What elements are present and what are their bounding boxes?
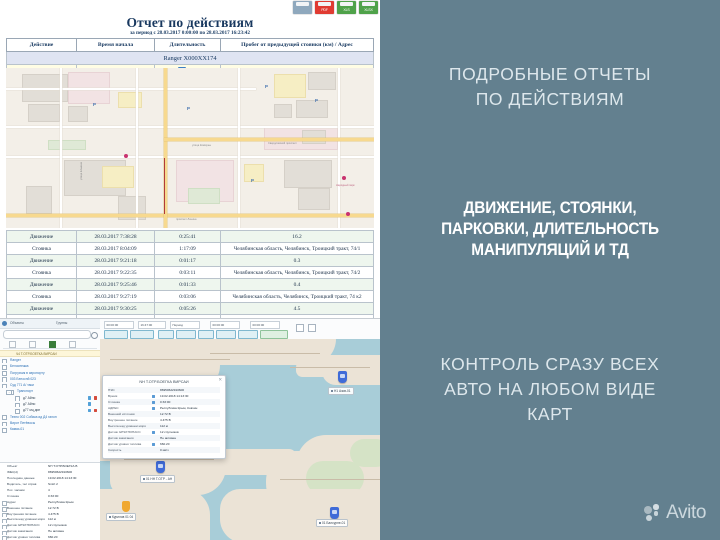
report-period-subtitle: за период с 28.03.2017 0:00:00 по 28.03.…: [0, 30, 380, 36]
map-building: [284, 160, 332, 188]
list-item-label: Ranger: [10, 358, 21, 362]
headline-block-2: ДВИЖЕНИЕ, СТОЯНКИ, ПАРКОВКИ, ДЛИТЕЛЬНОСТ…: [380, 198, 720, 261]
col-mileage-address: Пробег от предыдущей стоянки (км) / Адре…: [221, 39, 374, 52]
toolbar-icon-button[interactable]: [238, 330, 258, 339]
cell-start: 28.03.2017 7:38:28: [77, 231, 155, 243]
map-street-label: Свердловский проспект: [268, 142, 297, 145]
map-building: [296, 100, 328, 118]
map-track-line: [164, 158, 165, 214]
map-poi-label: Народный парк: [336, 184, 355, 187]
avito-watermark: Avito: [644, 502, 706, 524]
report-rows-table: Движение 28.03.2017 7:38:28 0:25:41 16.2…: [6, 230, 374, 318]
popup-label: Датчик GPS/ГЛОНАСС: [108, 430, 141, 434]
list-item-label: д7 Айно: [23, 402, 35, 406]
print-icon[interactable]: [293, 1, 312, 14]
parking-icon: P: [314, 98, 319, 103]
popup-label: АДРЕС: [108, 406, 119, 410]
pdf-label: PDF: [317, 8, 332, 13]
cell-detail: Челябинская область, Челябинск, Троицкий…: [221, 267, 374, 279]
map-toolbar: 00:00:00 16:47:00 Период 00:00:00 00:00:…: [100, 319, 380, 340]
export-toolbar: PDF XLS XLSX: [293, 1, 378, 14]
map-green-area: [48, 140, 86, 150]
col-start-time: Время начала: [77, 39, 155, 52]
vehicle-marker[interactable]: [330, 507, 339, 519]
property-label: Датчик GPS/ГЛОНАСС: [7, 523, 40, 527]
map-building: [308, 72, 336, 90]
popup-label: Скорость: [108, 448, 121, 452]
avito-dot-3: [654, 511, 659, 516]
parking-icon: P: [264, 84, 269, 89]
app-sidebar: Объекты Группы Ч4 T.OTP.БОЕГКА ВИРСАИ Ra…: [0, 319, 101, 540]
table-row: Движение 28.03.2017 9:21:18 0:01:17 0.3: [7, 255, 374, 267]
cell-detail: 16.2: [221, 231, 374, 243]
avito-dot-4: [646, 515, 652, 521]
property-label: Внешнее питание: [7, 506, 33, 510]
print-label: [295, 8, 310, 13]
map-route: [110, 359, 230, 360]
map-building: [28, 104, 60, 122]
toolbar-icon-button[interactable]: [176, 330, 196, 339]
report-title: Отчет по действиям: [0, 15, 380, 31]
map-building: [302, 130, 326, 144]
fuel-label[interactable]: Курилов 01 04: [106, 513, 136, 521]
cell-start: 28.03.2017 9:27:19: [77, 291, 155, 303]
toolbar-field-period[interactable]: Период: [170, 321, 200, 329]
avito-wordmark: Avito: [666, 502, 706, 524]
list-item-label: Белоснежка: [10, 364, 29, 368]
list-item[interactable]: Камаз-01: [0, 426, 100, 432]
map-route: [210, 353, 320, 354]
cell-action: Стоянка: [7, 267, 77, 279]
screenshot-root: PDF XLS XLSX Отчет по действиям за перио…: [0, 0, 720, 540]
cell-action: Стоянка: [7, 243, 77, 255]
list-item-label: 003 Белоснй 023: [10, 377, 36, 381]
cell-duration: 0:03:06: [155, 291, 221, 303]
sidebar-tab-groups[interactable]: Группы: [56, 321, 67, 325]
checkbox[interactable]: [2, 428, 7, 433]
toolbar-icon-button[interactable]: [216, 330, 236, 339]
sidebar-tab-objects[interactable]: Объекты: [10, 321, 24, 325]
printer-paper: [296, 2, 309, 6]
app-logo-icon: [2, 321, 7, 326]
status-badge-blue[interactable]: [88, 396, 91, 399]
popup-label: Высота над уровнем моря: [108, 424, 146, 428]
toolbar-field-end[interactable]: 00:00:00: [250, 321, 280, 329]
track-button[interactable]: [104, 330, 128, 339]
cell-detail: Челябинская область, Челябинск, Троицкий…: [221, 291, 374, 303]
cell-action: Движение: [7, 231, 77, 243]
property-label: Адрес: [7, 500, 16, 504]
map-building: [118, 92, 142, 108]
satellite-icon: [152, 431, 155, 434]
headline-1-line-1: ПОДРОБНЫЕ ОТЧЕТЫ: [380, 62, 720, 87]
map-building: [298, 188, 330, 210]
property-label: Водитель, тел справ: [7, 482, 36, 486]
headline-block-3: КОНТРОЛЬ СРАЗУ ВСЕХ АВТО НА ЛЮБОМ ВИДЕ К…: [380, 352, 720, 427]
map-street-label: проспект Ленина: [176, 218, 196, 221]
cell-duration: 0:03:11: [155, 267, 221, 279]
report-city-map[interactable]: P P P P P улица Коммуны Свердловский про…: [6, 68, 374, 228]
popup-label: Внутреннее питание: [108, 418, 138, 422]
filter-tab-2[interactable]: [29, 341, 36, 348]
parking-icon: P: [186, 106, 191, 111]
headline-2-line-2: ПАРКОВКИ, ДЛИТЕЛЬНОСТЬ: [392, 219, 708, 240]
xls-paper: [340, 2, 353, 6]
col-duration: Длительность: [155, 39, 221, 52]
cell-duration: 0:01:17: [155, 255, 221, 267]
map-poi-marker[interactable]: [346, 212, 350, 216]
map-main-road: [6, 214, 374, 217]
map-road: [338, 68, 340, 228]
toolbar-checkbox[interactable]: [296, 324, 304, 332]
vehicle-group-row: Ranger X000XX174: [7, 52, 374, 65]
status-badge-red[interactable]: [94, 396, 97, 399]
map-route: [280, 479, 380, 480]
map-poi-marker[interactable]: [124, 154, 128, 158]
list-item-label: Техно 002 Собика ид Д4 галон: [10, 415, 57, 419]
property-label: Внутренняя питание: [7, 512, 36, 516]
map-poi-marker[interactable]: [342, 176, 346, 180]
cell-detail: 0.3: [221, 255, 374, 267]
headline-block-1: ПОДРОБНЫЕ ОТЧЕТЫ ПО ДЕЙСТВИЯМ: [380, 62, 720, 112]
property-label: Стоянка: [7, 494, 19, 498]
toolbar-icon-button[interactable]: [158, 330, 174, 339]
sidebar-filter-tabs: [3, 340, 97, 349]
status-badge-blue[interactable]: [88, 409, 91, 412]
xlsx-label: XLSX: [361, 8, 376, 13]
status-badge-red[interactable]: [94, 409, 97, 412]
cell-start: 28.03.2017 8:04:09: [77, 243, 155, 255]
popup-row: Скорость0 км/ч: [108, 447, 220, 453]
object-properties-panel: ОбъектNH T.OTP.БОЕГКА В IMEI(id)86950622…: [0, 462, 100, 540]
cell-action: Движение: [7, 279, 77, 291]
vehicle-label[interactable]: Н1 Азов-01: [328, 387, 354, 395]
avito-logo-icon: [644, 504, 662, 522]
close-icon[interactable]: ✕: [218, 378, 222, 382]
checkbox[interactable]: [2, 536, 7, 540]
toolbar-apply-button[interactable]: [260, 330, 288, 339]
clock-icon: [152, 395, 155, 398]
map-road: [6, 88, 256, 90]
vehicle-label[interactable]: 01 Балсурне-01: [316, 519, 348, 527]
popup-value: 0 км/ч: [160, 447, 169, 453]
map-route: [124, 459, 214, 460]
map-building: [68, 106, 88, 122]
property-label: Объект: [7, 464, 18, 468]
property-value: 660.20: [48, 535, 57, 540]
headline-3-line-1: КОНТРОЛЬ СРАЗУ ВСЕХ: [380, 352, 720, 377]
app-map-area: 00:00:00 16:47:00 Период 00:00:00 00:00:…: [100, 319, 380, 540]
left-screenshot-column: PDF XLS XLSX Отчет по действиям за перио…: [0, 0, 380, 540]
search-icon[interactable]: [91, 332, 98, 339]
xls-label: XLS: [339, 8, 354, 13]
property-label: Последние данные: [7, 476, 35, 480]
cell-start: 28.03.2017 9:30:25: [77, 303, 155, 315]
cell-start: 28.03.2017 9:21:18: [77, 255, 155, 267]
cell-start: 28.03.2017 9:22:35: [77, 267, 155, 279]
headline-2-line-1: ДВИЖЕНИЕ, СТОЯНКИ,: [392, 198, 708, 219]
cell-detail: 0.4: [221, 279, 374, 291]
vehicle-marker[interactable]: [338, 371, 347, 383]
pdf-export-icon[interactable]: PDF: [315, 1, 334, 14]
map-main-road: [164, 138, 374, 141]
cell-action: Движение: [7, 303, 77, 315]
list-item-label: Транспорт: [17, 389, 33, 393]
map-road: [238, 68, 240, 228]
popup-label: Внешний источник: [108, 412, 135, 416]
fuel-station-marker[interactable]: [122, 501, 130, 512]
cell-action: Стоянка: [7, 291, 77, 303]
list-item-label: д77 мц дип: [23, 408, 40, 412]
map-street-label: улица Коммуны: [192, 144, 211, 147]
map-route: [290, 367, 370, 368]
promo-panel: ПОДРОБНЫЕ ОТЧЕТЫ ПО ДЕЙСТВИЯМ ДВИЖЕНИЕ, …: [380, 0, 720, 540]
cell-detail: Челябинская область, Челябинск, Троицкий…: [221, 243, 374, 255]
list-item-label: Камаз-01: [10, 427, 24, 431]
map-landmass: [322, 359, 380, 385]
table-row: Стоянка 28.03.2017 9:22:35 0:03:11 Челяб…: [7, 267, 374, 279]
map-building: [26, 186, 52, 214]
map-building: [274, 104, 292, 118]
toolbar-layers-icon[interactable]: [308, 324, 316, 332]
map-building: [102, 166, 134, 188]
property-label: Датчик зажигания: [7, 529, 33, 533]
headline-1-line-2: ПО ДЕЙСТВИЯМ: [380, 87, 720, 112]
toolbar-field-from-time[interactable]: 00:00:00: [104, 321, 134, 329]
popup-label: НЭС: [108, 388, 115, 392]
avito-dot-1: [644, 506, 652, 514]
toolbar-field-start[interactable]: 00:00:00: [210, 321, 240, 329]
parking-icon: P: [92, 102, 97, 107]
toolbar-icon-button[interactable]: [198, 330, 214, 339]
popup-title: NH T.OTP.БОЕГКА ВИРСАИ: [108, 380, 220, 384]
headline-3-line-3: КАРТ: [380, 402, 720, 427]
headline-2-line-3: МАНИПУЛЯЦИЙ И ТД: [392, 240, 708, 261]
sidebar-header: Объекты Группы: [0, 319, 100, 329]
search-input[interactable]: [3, 330, 91, 339]
map-green-area: [188, 188, 220, 204]
popup-label: Стоянка: [108, 400, 120, 404]
property-row: Датчик уровня топлива660.20: [0, 535, 100, 540]
map-road: [136, 68, 138, 228]
cell-duration: 0:25:41: [155, 231, 221, 243]
table-row: Стоянка 28.03.2017 8:04:09 1:17:09 Челяб…: [7, 243, 374, 255]
tracking-app-screenshot: Объекты Группы Ч4 T.OTP.БОЕГКА ВИРСАИ Ra…: [0, 318, 380, 540]
cell-detail: 4.5: [221, 303, 374, 315]
table-row: Движение 28.03.2017 9:30:25 0:05:26 4.5: [7, 303, 374, 315]
fuel-icon: [152, 443, 155, 446]
parking-icon: [152, 401, 155, 404]
list-item-label: Вирот Петёвосы: [10, 421, 35, 425]
pdf-paper: [318, 2, 331, 6]
col-action: Действие: [7, 39, 77, 52]
property-label: Высота над уровнем моря: [7, 517, 45, 521]
list-item-label: Суд 771 А/ таки: [10, 383, 34, 387]
table-row: Движение 28.03.2017 7:38:28 0:25:41 16.2: [7, 231, 374, 243]
popup-label: Датчик уровня топлива: [108, 442, 141, 446]
parking-icon: P: [250, 178, 255, 183]
status-badge-blue[interactable]: [88, 402, 91, 405]
tree-group-header[interactable]: Ч4 T.OTP.БОЕГКА ВИРСАИ: [0, 350, 100, 357]
object-tree: Ч4 T.OTP.БОЕГКА ВИРСАИ Ranger Белоснежка…: [0, 350, 100, 433]
property-label: IMEI(id): [7, 470, 18, 474]
map-road: [60, 68, 62, 228]
list-item-label: д7 Айно: [23, 396, 35, 400]
cell-action: Движение: [7, 255, 77, 267]
property-label: Датчик уровня топлива: [7, 535, 40, 539]
cell-start: 28.03.2017 9:25:46: [77, 279, 155, 291]
popup-label: Время: [108, 394, 117, 398]
vehicle-info-popup: ✕ NH T.OTP.БОЕГКА ВИРСАИ НЭС869506229106…: [102, 375, 226, 459]
list-item-label: Погрузчик в аэропорту: [10, 371, 45, 375]
cell-duration: 0:01:33: [155, 279, 221, 291]
toolbar-field-to-time[interactable]: 16:47:00: [138, 321, 166, 329]
table-row: Стоянка 28.03.2017 9:27:19 0:03:06 Челяб…: [7, 291, 374, 303]
xls-export-icon[interactable]: XLS: [337, 1, 356, 14]
cell-duration: 0:05:26: [155, 303, 221, 315]
map-street-label: улица Елькина: [80, 162, 83, 180]
filter-tab-3[interactable]: [49, 341, 56, 348]
xlsx-paper: [362, 2, 375, 6]
headline-3-line-2: АВТО НА ЛЮБОМ ВИДЕ: [380, 377, 720, 402]
vehicle-label[interactable]: 01 НН T.OTP - АН: [140, 475, 175, 483]
table-header-row: Действие Время начала Длительность Пробе…: [7, 39, 374, 52]
table-row: Движение 28.03.2017 9:25:46 0:01:33 0.4: [7, 279, 374, 291]
report-button[interactable]: [130, 330, 154, 339]
map-building: [274, 74, 306, 98]
map-forest: [350, 439, 380, 467]
world-map[interactable]: Н1 Азов-01 01 НН T.OTP - АН Курилов 01 0…: [100, 339, 380, 540]
filter-tab-4[interactable]: [69, 341, 76, 348]
report-screenshot: PDF XLS XLSX Отчет по действиям за перио…: [0, 0, 380, 318]
popup-label: Датчик зажигания: [108, 436, 134, 440]
vehicle-marker[interactable]: [156, 461, 165, 473]
filter-tab-1[interactable]: [9, 341, 16, 348]
property-label: Пос. часами: [7, 488, 25, 492]
vehicle-name: Ranger X000XX174: [7, 52, 374, 65]
cell-duration: 1:17:09: [155, 243, 221, 255]
map-landmass: [220, 489, 380, 540]
avito-dot-2: [653, 504, 659, 510]
xlsx-export-icon[interactable]: XLSX: [359, 1, 378, 14]
pin-icon: [152, 407, 155, 410]
